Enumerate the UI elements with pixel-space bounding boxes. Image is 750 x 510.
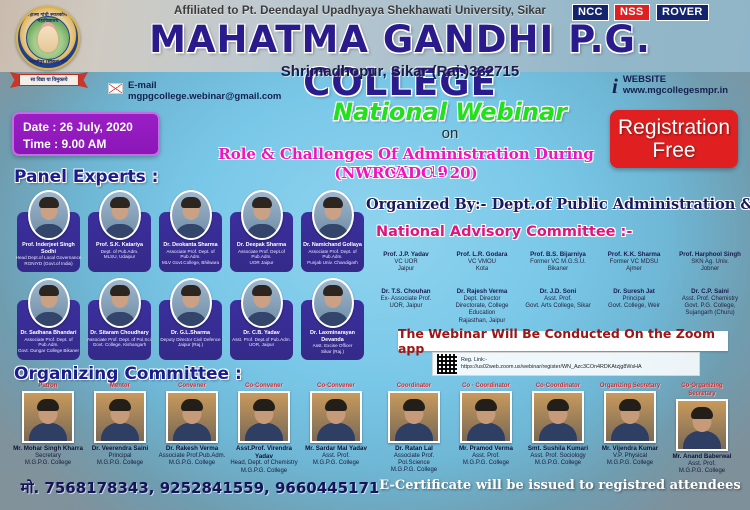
- ecertificate-note: E-Certificate will be issued to registre…: [370, 478, 750, 493]
- expert-designation: Asst. Excise OfficerSikar (Raj.): [299, 343, 366, 354]
- expert-designation: Asst. Prof. Dept.of Pub.Adm.UOR, Jaipur: [228, 337, 295, 348]
- detail-line: Associate Prof. Dept. of Pub.Adm.: [157, 249, 224, 260]
- detail-line: Rajasthan, Jaipur: [445, 318, 519, 325]
- detail-line: Govt. Arts College, Sikar: [521, 303, 595, 310]
- detail-line: Bikaner: [521, 266, 595, 273]
- organizing-member-card: ConvenerDr. Rakesh VermaAssociate Prof.P…: [156, 382, 228, 475]
- avatar-hair: [109, 399, 131, 411]
- panel-expert-card: Dr. Sitaram ChoudharyAssociate Prof. Dep…: [85, 278, 154, 354]
- advisory-member: Prof. J.P. YadavVC UORJaipur: [368, 251, 444, 273]
- avatar: [28, 190, 70, 240]
- webinar-poster: महात्मा गांधी स्नातकोत्तर महाविद्यालय श्…: [0, 0, 750, 510]
- advisory-designation: VC VMOUKota: [445, 259, 519, 274]
- panel-expert-card: Dr. Laxminarayan DevandaAsst. Excise Off…: [298, 278, 367, 354]
- member-role: Patron: [13, 382, 83, 390]
- expert-label: Dr. Laxminarayan DevandaAsst. Excise Off…: [298, 330, 367, 354]
- detail-line: Jaipur (Raj.): [157, 342, 224, 348]
- avatar-body: [317, 423, 355, 443]
- advisory-member: Dr. Suresh JatPrincipalGovt. College, We…: [596, 288, 672, 325]
- member-role: Co-Convener: [229, 382, 299, 390]
- website-value[interactable]: www.mgcollegesmpr.in: [623, 85, 728, 96]
- zoom-app-banner: The Webinar Will Be Conducted On the Zoo…: [398, 331, 728, 351]
- expert-label: Dr. Deokanta SharmaAssociate Prof. Dept.…: [156, 242, 225, 265]
- avatar: [170, 278, 212, 328]
- member-designation: PrincipalM.G.P.G. College: [85, 453, 155, 468]
- expert-designation: Associate Prof. Dept.of Pub.Adm.UOR Jaip…: [228, 249, 295, 266]
- organizing-member-card: Co-Organizing SecretaryMr. Anand Baberwa…: [666, 382, 738, 475]
- avatar: [388, 391, 440, 443]
- organizing-row-right: CoordinatorDr. Ratan LalAssociate Prof. …: [378, 382, 738, 475]
- expert-designation: Associate Prof. Dept. of Pol.Sci.Govt. C…: [86, 337, 153, 348]
- expert-name: Prof. S.K. Katariya: [86, 242, 153, 249]
- panel-expert-card: Dr. Sadhana BhandariAssociate Prof. Dept…: [14, 278, 83, 354]
- avatar-hair: [252, 197, 272, 208]
- avatar-body: [173, 423, 211, 443]
- avatar-hair: [691, 407, 713, 419]
- detail-line: Head Dept.of Local Governance: [15, 255, 82, 261]
- detail-line: Sikar (Raj.): [299, 349, 366, 355]
- expert-designation: Head Dept.of Local GovernanceRGNIYD (Gov…: [15, 255, 82, 266]
- registration-free-badge: Registration Free: [610, 110, 738, 168]
- advisory-name: Prof. K.K. Sharma: [597, 251, 671, 259]
- detail-line: Govt. College, Kishangarh: [86, 342, 153, 348]
- expert-name: Dr. C.B. Yadav: [228, 330, 295, 337]
- member-name: Mr. Mohar Singh Kharra: [13, 445, 83, 453]
- detail-line: V.P. Physical: [595, 453, 665, 460]
- detail-line: Asst. Prof.: [667, 461, 737, 468]
- detail-line: Govt. Dungar College Bikaner: [15, 348, 82, 354]
- member-name: Mr. Sardar Mal Yadav: [301, 445, 371, 453]
- advisory-member: Prof. K.K. SharmaFormer VC MDSUAjmer: [596, 251, 672, 273]
- avatar-hair: [181, 399, 203, 411]
- detail-line: Dept. Director: [445, 296, 519, 303]
- member-designation: Associate Prof.Pub.Adm.M.G.P.G. College: [157, 453, 227, 468]
- avatar-body: [245, 423, 283, 443]
- detail-line: Former VC M.G.S.U.: [521, 259, 595, 266]
- advisory-designation: Former VC M.G.S.U.Bikaner: [521, 259, 595, 274]
- expert-label: Dr. Sitaram ChoudharyAssociate Prof. Dep…: [85, 330, 154, 348]
- organizing-member-card: MentorDr. Veerendra SainiPrincipalM.G.P.…: [84, 382, 156, 475]
- advisory-name: Dr. T.S. Chouhan: [369, 288, 443, 296]
- detail-line: Head, Dept. of Chemistry: [229, 460, 299, 467]
- advisory-designation: Ex- Associate Prof.UOR, Jaipur: [369, 296, 443, 311]
- advisory-designation: PrincipalGovt. College, Weir: [597, 296, 671, 311]
- avatar-hair: [39, 285, 59, 296]
- detail-line: UOR, Jaipur: [369, 303, 443, 310]
- advisory-designation: Former VC MDSUAjmer: [597, 259, 671, 274]
- avatar: [94, 391, 146, 443]
- organizing-member-card: CoordinatorDr. Ratan LalAssociate Prof. …: [378, 382, 450, 475]
- detail-line: M.G.P.G. College: [523, 460, 593, 467]
- detail-line: SKN Ag. Univ.: [673, 259, 747, 266]
- advisory-name: Prof. L.R. Godara: [445, 251, 519, 259]
- avatar: [170, 190, 212, 240]
- registration-label: Registration: [618, 116, 730, 139]
- avatar-body: [611, 423, 649, 443]
- detail-line: M.G.P.G. College: [595, 460, 665, 467]
- member-name: Dr. Ratan Lal: [379, 445, 449, 453]
- detail-line: MLSU, Udaipur: [86, 254, 153, 260]
- detail-line: Former VC MDSU: [597, 259, 671, 266]
- expert-designation: Associate Prof. Dept. of Pub.Adm.MLV Gov…: [157, 249, 224, 266]
- info-icon: i: [612, 76, 618, 96]
- avatar-hair: [253, 399, 275, 411]
- expert-name: Dr. Laxminarayan Devanda: [299, 330, 366, 343]
- detail-line: M.G.P.G. College: [229, 468, 299, 475]
- expert-label: Prof. Inderjeet Singh SodhiHead Dept.of …: [14, 242, 83, 266]
- avatar-body: [395, 423, 433, 443]
- avatar-body: [539, 423, 577, 443]
- organizing-member-card: PatronMr. Mohar Singh KharraSecretaryM.G…: [12, 382, 84, 475]
- member-designation: Asst. Prof.M.G.P.G. College: [301, 453, 371, 468]
- college-address: Shrimadhopur, Sikar (Raj.)332715: [200, 63, 600, 80]
- detail-line: VC VMOU: [445, 259, 519, 266]
- webinar-theme-code: (NWRCADC - 20): [196, 164, 616, 182]
- avatar: [241, 190, 283, 240]
- member-role: Coordinator: [379, 382, 449, 390]
- expert-label: Dr. Deepak SharmaAssociate Prof. Dept.of…: [227, 242, 296, 265]
- detail-line: Asst. Prof. Sociology: [523, 453, 593, 460]
- organizing-member-card: Co-ConvenerMr. Sardar Mal YadavAsst. Pro…: [300, 382, 372, 475]
- registration-link-box[interactable]: Reg. Link:- https://us02web.zoom.us/webi…: [432, 352, 700, 376]
- avatar-body: [175, 224, 207, 240]
- expert-designation: Deputy Director Civil DefenceJaipur (Raj…: [157, 337, 224, 348]
- avatar: [676, 399, 728, 451]
- detail-line: Kota: [445, 266, 519, 273]
- avatar: [28, 278, 70, 328]
- detail-line: Principal: [597, 296, 671, 303]
- detail-line: Govt. P.G. College,: [673, 303, 747, 310]
- avatar-body: [101, 423, 139, 443]
- organizing-member-card: Co - CoordinatorMr. Pramod VermaAsst. Pr…: [450, 382, 522, 475]
- member-designation: Associate Prof. Pol.ScienceM.G.P.G. Coll…: [379, 453, 449, 475]
- advisory-designation: VC UORJaipur: [369, 259, 443, 274]
- advisory-member: Dr. T.S. ChouhanEx- Associate Prof.UOR, …: [368, 288, 444, 325]
- event-date: Date : 26 July, 2020: [23, 119, 158, 136]
- detail-line: M.G.P.G. College: [379, 467, 449, 474]
- detail-line: MLV Govt.College, Bhilwara: [157, 260, 224, 266]
- advisory-name: Prof. J.P. Yadav: [369, 251, 443, 259]
- avatar-hair: [110, 197, 130, 208]
- avatar-hair: [37, 399, 59, 411]
- avatar: [99, 190, 141, 240]
- expert-label: Prof. S.K. KatariyaDept. of Pub.Adm.MLSU…: [85, 242, 154, 260]
- avatar-body: [104, 224, 136, 240]
- advisory-row-1: Prof. J.P. YadavVC UORJaipurProf. L.R. G…: [368, 251, 748, 273]
- panel-expert-card: Prof. S.K. KatariyaDept. of Pub.Adm.MLSU…: [85, 190, 154, 266]
- organizing-member-card: Organizing SecretaryMr. Vijendra KumarV.…: [594, 382, 666, 475]
- advisory-designation: Asst. Prof. ChemistryGovt. P.G. College,…: [673, 296, 747, 318]
- event-time: Time : 9.00 AM: [23, 136, 158, 153]
- organizing-member-card: Co-ConvenerAsst.Prof. Virendra YadavHead…: [228, 382, 300, 475]
- avatar-body: [246, 312, 278, 328]
- detail-line: M.G.P.G. College: [667, 468, 737, 475]
- qr-code-icon[interactable]: [437, 354, 457, 374]
- advisory-row-2: Dr. T.S. ChouhanEx- Associate Prof.UOR, …: [368, 288, 748, 325]
- member-designation: Asst. Prof.M.G.P.G. College: [451, 453, 521, 468]
- expert-name: Dr. Sadhana Bhandari: [15, 330, 82, 337]
- avatar-body: [683, 431, 721, 451]
- webinar-on-word: on: [300, 125, 600, 142]
- detail-line: Asst. Prof.: [451, 453, 521, 460]
- member-designation: Asst. Prof.M.G.P.G. College: [667, 461, 737, 476]
- panel-expert-card: Dr. Deokanta SharmaAssociate Prof. Dept.…: [156, 190, 225, 266]
- expert-name: Dr. Deokanta Sharma: [157, 242, 224, 249]
- avatar-body: [29, 423, 67, 443]
- avatar: [312, 190, 354, 240]
- member-name: Dr. Rakesh Verma: [157, 445, 227, 453]
- detail-line: Jobner: [673, 266, 747, 273]
- website-contact: i WEBSITE www.mgcollegesmpr.in: [612, 74, 728, 96]
- panel-expert-card: Dr. G.L.SharmaDeputy Director Civil Defe…: [156, 278, 225, 354]
- detail-line: Principal: [85, 453, 155, 460]
- detail-line: Associate Prof. Dept. of Pub.Adm.: [15, 337, 82, 348]
- avatar: [166, 391, 218, 443]
- envelope-icon: [108, 83, 123, 94]
- expert-designation: Dept. of Pub.Adm.MLSU, Udaipur: [86, 249, 153, 260]
- organizing-row-left: PatronMr. Mohar Singh KharraSecretaryM.G…: [12, 382, 372, 475]
- avatar: [460, 391, 512, 443]
- advisory-member: Dr. Rajesh VermaDept. DirectorDirectorat…: [444, 288, 520, 325]
- advisory-committee-heading: National Advisory Committee :-: [376, 224, 632, 240]
- member-name: Mr. Pramod Verma: [451, 445, 521, 453]
- advisory-name: Dr. Suresh Jat: [597, 288, 671, 296]
- member-name: Asst.Prof. Virendra Yadav: [229, 445, 299, 460]
- detail-line: Associate Prof.Pub.Adm.: [157, 453, 227, 460]
- email-contact: E-mail mgpgcollege.webinar@gmail.com: [108, 80, 281, 102]
- advisory-member: Dr. C.P. SainiAsst. Prof. ChemistryGovt.…: [672, 288, 748, 325]
- avatar-body: [33, 224, 65, 240]
- expert-designation: Associate Prof. Dept. of Pub.Adm.Govt. D…: [15, 337, 82, 354]
- avatar-hair: [475, 399, 497, 411]
- organized-by-text: Organized By:- Dept.of Public Administra…: [366, 196, 750, 213]
- member-name: Smt. Sushila Kumari: [523, 445, 593, 453]
- member-name: Mr. Vijendra Kumar: [595, 445, 665, 453]
- detail-line: M.G.P.G. College: [301, 460, 371, 467]
- datetime-box: Date : 26 July, 2020 Time : 9.00 AM: [12, 112, 160, 156]
- expert-designation: Associate Prof. Dept. of Pub.Adm.Punjab …: [299, 249, 366, 266]
- reg-link-url[interactable]: https://us02web.zoom.us/webinar/register…: [461, 364, 642, 371]
- avatar-hair: [325, 399, 347, 411]
- avatar: [22, 391, 74, 443]
- detail-line: M.G.P.G. College: [451, 460, 521, 467]
- detail-line: UOR, Jaipur: [228, 342, 295, 348]
- avatar-body: [104, 312, 136, 328]
- panel-expert-card: Dr. Deepak SharmaAssociate Prof. Dept.of…: [227, 190, 296, 266]
- detail-line: Jaipur: [369, 266, 443, 273]
- contact-phone-line: मो. 7568178343, 9252841559, 9660445171: [0, 478, 400, 498]
- avatar-hair: [181, 285, 201, 296]
- detail-line: M.G.P.G. College: [13, 460, 83, 467]
- member-designation: Asst. Prof. SociologyM.G.P.G. College: [523, 453, 593, 468]
- panel-experts-row-1: Prof. Inderjeet Singh SodhiHead Dept.of …: [14, 190, 367, 266]
- avatar-hair: [619, 399, 641, 411]
- panel-experts-row-2: Dr. Sadhana BhandariAssociate Prof. Dept…: [14, 278, 367, 354]
- detail-line: Asst. Prof.: [301, 453, 371, 460]
- expert-label: Dr. Namichand GollayaAssociate Prof. Dep…: [298, 242, 367, 265]
- reg-link-label: Reg. Link:-: [461, 357, 642, 364]
- detail-line: M.G.P.G. College: [157, 460, 227, 467]
- avatar-body: [33, 312, 65, 328]
- detail-line: Directorate, College Education: [445, 303, 519, 318]
- avatar: [238, 391, 290, 443]
- avatar: [604, 391, 656, 443]
- avatar: [532, 391, 584, 443]
- member-designation: Head, Dept. of ChemistryM.G.P.G. College: [229, 460, 299, 475]
- member-role: Convener: [157, 382, 227, 390]
- advisory-name: Prof. B.S. Bijarniya: [521, 251, 595, 259]
- saraswati-figure-icon: [38, 26, 58, 52]
- detail-line: Ex- Associate Prof.: [369, 296, 443, 303]
- avatar-hair: [547, 399, 569, 411]
- detail-line: Ajmer: [597, 266, 671, 273]
- affiliation-text: Affiliated to Pt. Deendayal Upadhyaya Sh…: [160, 5, 560, 17]
- expert-label: Dr. Sadhana BhandariAssociate Prof. Dept…: [14, 330, 83, 353]
- avatar-body: [317, 224, 349, 240]
- panel-experts-heading: Panel Experts :: [14, 167, 158, 187]
- advisory-name: Prof. Harphool Singh: [673, 251, 747, 259]
- expert-name: Dr. G.L.Sharma: [157, 330, 224, 337]
- detail-line: Associate Prof. Dept. of Pub.Adm.: [299, 249, 366, 260]
- avatar-hair: [403, 399, 425, 411]
- avatar: [310, 391, 362, 443]
- advisory-designation: SKN Ag. Univ.Jobner: [673, 259, 747, 274]
- avatar-hair: [181, 197, 201, 208]
- avatar: [99, 278, 141, 328]
- detail-line: Govt. College, Weir: [597, 303, 671, 310]
- avatar-hair: [323, 285, 343, 296]
- advisory-name: Dr. Rajesh Verma: [445, 288, 519, 296]
- avatar-hair: [39, 197, 59, 208]
- panel-expert-card: Dr. C.B. YadavAsst. Prof. Dept.of Pub.Ad…: [227, 278, 296, 354]
- advisory-member: Prof. Harphool SinghSKN Ag. Univ.Jobner: [672, 251, 748, 273]
- avatar-hair: [323, 197, 343, 208]
- panel-expert-card: Dr. Namichand GollayaAssociate Prof. Dep…: [298, 190, 367, 266]
- organizing-committee-heading: Organizing Committee :: [14, 364, 242, 384]
- avatar: [312, 278, 354, 328]
- advisory-name: Dr. C.P. Saini: [673, 288, 747, 296]
- advisory-member: Prof. L.R. GodaraVC VMOUKota: [444, 251, 520, 273]
- detail-line: Associate Prof. Dept.of Pub.Adm.: [228, 249, 295, 260]
- avatar-body: [467, 423, 505, 443]
- member-role: Co-Coordinator: [523, 382, 593, 390]
- detail-line: M.G.P.G. College: [85, 460, 155, 467]
- expert-label: Dr. C.B. YadavAsst. Prof. Dept.of Pub.Ad…: [227, 330, 296, 348]
- detail-line: VC UOR: [369, 259, 443, 266]
- avatar-body: [175, 312, 207, 328]
- webinar-title: National Webinar: [300, 98, 600, 126]
- member-role: Mentor: [85, 382, 155, 390]
- member-role: Co-Convener: [301, 382, 371, 390]
- expert-name: Dr. Namichand Gollaya: [299, 242, 366, 249]
- member-name: Dr. Veerendra Saini: [85, 445, 155, 453]
- advisory-member: Prof. B.S. BijarniyaFormer VC M.G.S.U.Bi…: [520, 251, 596, 273]
- detail-line: Sujangarh (Churu): [673, 310, 747, 317]
- avatar-hair: [110, 285, 130, 296]
- detail-line: Secretary: [13, 453, 83, 460]
- registration-free-label: Free: [652, 139, 695, 162]
- email-value: mgpgcollege.webinar@gmail.com: [128, 91, 281, 102]
- member-role: Co-Organizing Secretary: [667, 382, 737, 398]
- member-role: Organizing Secretary: [595, 382, 665, 390]
- detail-line: Associate Prof. Pol.Science: [379, 453, 449, 468]
- expert-name: Dr. Sitaram Choudhary: [86, 330, 153, 337]
- member-designation: SecretaryM.G.P.G. College: [13, 453, 83, 468]
- organizing-member-card: Co-CoordinatorSmt. Sushila KumariAsst. P…: [522, 382, 594, 475]
- website-label: WEBSITE: [623, 74, 728, 85]
- avatar-body: [317, 312, 349, 328]
- detail-line: UOR Jaipur: [228, 260, 295, 266]
- advisory-name: Dr. J.D. Soni: [521, 288, 595, 296]
- advisory-designation: Asst. Prof.Govt. Arts College, Sikar: [521, 296, 595, 311]
- detail-line: Asst. Prof. Chemistry: [673, 296, 747, 303]
- expert-name: Dr. Deepak Sharma: [228, 242, 295, 249]
- email-label: E-mail: [128, 80, 281, 91]
- member-role: Co - Coordinator: [451, 382, 521, 390]
- expert-name: Prof. Inderjeet Singh Sodhi: [15, 242, 82, 255]
- advisory-designation: Dept. DirectorDirectorate, College Educa…: [445, 296, 519, 326]
- expert-label: Dr. G.L.SharmaDeputy Director Civil Defe…: [156, 330, 225, 348]
- advisory-member: Dr. J.D. SoniAsst. Prof.Govt. Arts Colle…: [520, 288, 596, 325]
- member-name: Mr. Anand Baberwal: [667, 453, 737, 461]
- avatar: [241, 278, 283, 328]
- detail-line: Asst. Prof.: [521, 296, 595, 303]
- avatar-body: [246, 224, 278, 240]
- panel-expert-card: Prof. Inderjeet Singh SodhiHead Dept.of …: [14, 190, 83, 266]
- detail-line: RGNIYD (Govt.of India): [15, 261, 82, 267]
- member-designation: V.P. PhysicalM.G.P.G. College: [595, 453, 665, 468]
- detail-line: Punjab Univ. Chandigarh: [299, 260, 366, 266]
- avatar-hair: [252, 285, 272, 296]
